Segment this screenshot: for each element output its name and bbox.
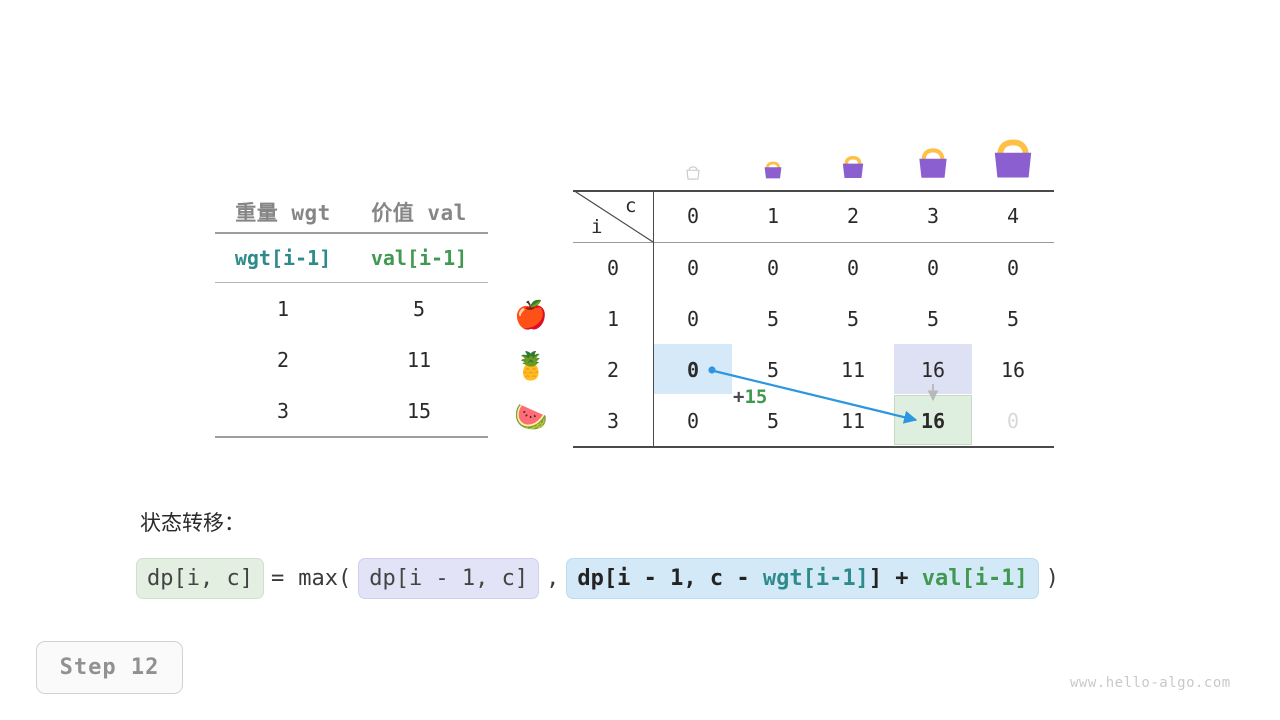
item-value-cell: 15 [351, 399, 487, 423]
bag-medium-icon [813, 150, 893, 188]
bag-icon-row [573, 126, 1054, 188]
dp-row-label: 0 [573, 256, 653, 280]
dp-table-bottom-rule [573, 446, 1054, 448]
dp-cell: 0 [813, 256, 893, 280]
item-table-row: 2 11 [215, 334, 488, 385]
dp-cell: 0 [653, 256, 733, 280]
dp-cell: 0 [653, 409, 733, 433]
pineapple-emoji: 🍍 [508, 353, 554, 380]
dp-cell: 5 [893, 307, 973, 331]
capacity-header-4: 4 [973, 204, 1053, 228]
item-table-header-weight: 重量 wgt [215, 197, 351, 227]
dp-row-label: 3 [573, 409, 653, 433]
dp-cell-source: 0 [653, 358, 733, 382]
formula-comma: , [539, 566, 566, 591]
dp-cell-target: 16 [893, 409, 973, 433]
capacity-header-0: 0 [653, 204, 733, 228]
dp-grid: c i 0 1 2 3 4 0 0 0 0 0 0 1 0 5 5 5 5 [573, 190, 1054, 446]
dp-cell: 5 [813, 307, 893, 331]
transition-label: 状态转移： [140, 507, 245, 537]
dp-cell: 0 [893, 256, 973, 280]
bag-empty-icon [653, 162, 733, 188]
dp-cell-skip: 16 [893, 358, 973, 382]
dp-cell: 0 [973, 256, 1053, 280]
item-table-row: 3 15 [215, 385, 488, 436]
dp-row: 2 0 5 11 16 16 [573, 344, 1054, 395]
item-table-row: 1 5 [215, 283, 488, 334]
item-table-subheader-val: val[i-1] [351, 246, 487, 270]
dp-row-label: 2 [573, 358, 653, 382]
bag-small-icon [733, 156, 813, 188]
item-table-header-value: 价值 val [351, 197, 487, 227]
dp-table: c i 0 1 2 3 4 0 0 0 0 0 0 1 0 5 5 5 5 [573, 190, 1054, 446]
dp-cell: 5 [973, 307, 1053, 331]
formula-take-mid: ] + [869, 566, 922, 591]
dp-row-label: 1 [573, 307, 653, 331]
dp-cell: 5 [733, 307, 813, 331]
item-table-header: 重量 wgt 价值 val [215, 192, 488, 232]
dp-row: 0 0 0 0 0 0 [573, 242, 1054, 293]
formula-take-wgt: wgt[i-1] [763, 566, 869, 591]
dp-cell: 5 [733, 409, 813, 433]
step-badge: Step 12 [36, 641, 183, 694]
formula-skip-chip: dp[i - 1, c] [358, 558, 539, 599]
item-table-bottom-rule [215, 436, 488, 438]
dp-header-row: 0 1 2 3 4 [573, 190, 1054, 242]
capacity-header-1: 1 [733, 204, 813, 228]
dp-cell: 0 [733, 256, 813, 280]
dp-cell: 11 [813, 409, 893, 433]
dp-cell: 11 [813, 358, 893, 382]
item-weight-cell: 3 [215, 399, 351, 423]
dp-cell: 16 [973, 358, 1053, 382]
formula-target-chip: dp[i, c] [136, 558, 264, 599]
formula-take-prefix: dp[i - 1, c - [577, 566, 762, 591]
capacity-header-3: 3 [893, 204, 973, 228]
item-value-cell: 5 [351, 297, 487, 321]
formula-max-open: max( [291, 566, 358, 591]
transition-formula: dp[i, c] = max( dp[i - 1, c] , dp[i - 1,… [136, 558, 1066, 599]
formula-take-chip: dp[i - 1, c - wgt[i-1]] + val[i-1] [566, 558, 1038, 599]
dp-cell: 0 [653, 307, 733, 331]
item-table-subheader-wgt: wgt[i-1] [215, 246, 351, 270]
item-weight-cell: 1 [215, 297, 351, 321]
dp-cell-pending: 0 [973, 409, 1053, 433]
footer-watermark: www.hello-algo.com [1070, 675, 1231, 691]
bag-xlarge-icon [973, 132, 1053, 188]
apple-emoji: 🍎 [508, 302, 554, 329]
formula-equals: = [264, 566, 291, 591]
bag-large-icon [893, 142, 973, 188]
item-value-cell: 11 [351, 348, 487, 372]
item-table: 重量 wgt 价值 val wgt[i-1] val[i-1] 1 5 2 11… [215, 192, 488, 438]
dp-row: 1 0 5 5 5 5 [573, 293, 1054, 344]
item-table-subheader: wgt[i-1] val[i-1] [215, 234, 488, 282]
formula-close: ) [1039, 566, 1066, 591]
capacity-header-2: 2 [813, 204, 893, 228]
dp-cell: 5 [733, 358, 813, 382]
item-weight-cell: 2 [215, 348, 351, 372]
dp-row: 3 0 5 11 16 0 [573, 395, 1054, 446]
watermelon-emoji: 🍉 [508, 404, 554, 431]
formula-take-val: val[i-1] [922, 566, 1028, 591]
